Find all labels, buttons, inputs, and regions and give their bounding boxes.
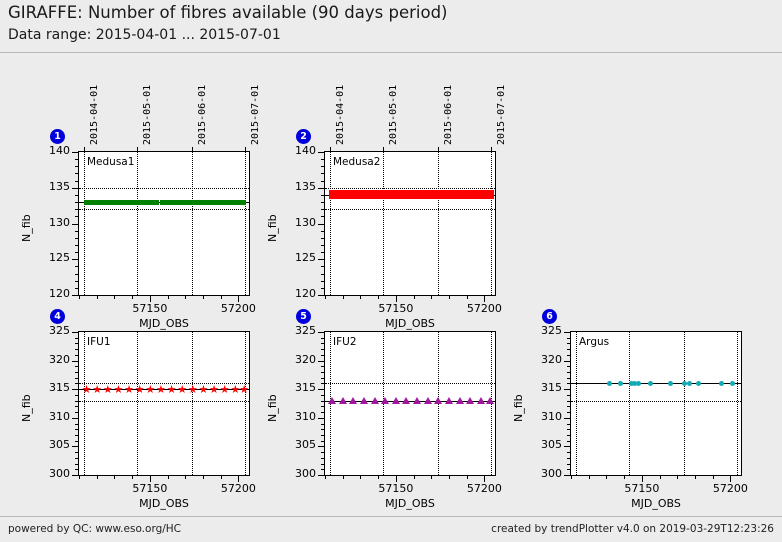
- x-axis-minor-tick: [185, 475, 186, 479]
- x-axis-tick-label: 57150: [366, 302, 426, 315]
- y-axis-minor-tick: [321, 349, 325, 350]
- y-axis-minor-tick: [567, 355, 571, 356]
- y-axis-minor-tick: [321, 343, 325, 344]
- data-point: ★: [135, 385, 144, 394]
- y-axis-tick-label: 315: [276, 381, 316, 394]
- x-axis-minor-tick: [132, 475, 133, 479]
- y-axis-tick-label: 305: [30, 438, 70, 451]
- y-axis-minor-tick: [75, 195, 79, 196]
- data-point: [402, 397, 410, 404]
- x-axis-tick: [642, 475, 643, 482]
- x-axis-tick-label: 57200: [454, 302, 514, 315]
- y-axis-tick: [72, 332, 79, 333]
- y-axis-tick: [72, 389, 79, 390]
- date-tick-label: 2015-07-01: [250, 85, 261, 145]
- y-axis-minor-tick: [75, 406, 79, 407]
- data-point: [719, 381, 724, 386]
- y-axis-tick: [72, 152, 79, 153]
- y-axis-minor-tick: [321, 181, 325, 182]
- y-axis-tick: [72, 418, 79, 419]
- y-axis-tick-label: 120: [30, 287, 70, 300]
- y-axis-tick: [318, 188, 325, 189]
- y-axis-minor-tick: [75, 458, 79, 459]
- y-axis-minor-tick: [321, 458, 325, 459]
- y-axis-tick-label: 310: [30, 410, 70, 423]
- data-point: [485, 190, 494, 199]
- x-axis-minor-tick: [467, 295, 468, 299]
- y-axis-minor-tick: [321, 469, 325, 470]
- y-axis-tick: [318, 389, 325, 390]
- y-axis-tick: [318, 295, 325, 296]
- plot-reference-line: [325, 383, 495, 384]
- y-axis-minor-tick: [321, 355, 325, 356]
- y-axis-minor-tick: [321, 406, 325, 407]
- x-axis-minor-tick: [203, 475, 204, 479]
- y-axis-minor-tick: [321, 266, 325, 267]
- x-axis-top-tick: [245, 147, 246, 151]
- x-axis-minor-tick: [221, 295, 222, 299]
- panel-index-badge[interactable]: 6: [542, 309, 557, 324]
- y-axis-minor-tick: [321, 452, 325, 453]
- y-axis-minor-tick: [567, 349, 571, 350]
- plot-reference-line: [325, 188, 495, 189]
- y-axis-minor-tick: [75, 216, 79, 217]
- data-point: ★: [167, 385, 176, 394]
- y-axis-minor-tick: [75, 338, 79, 339]
- footer-credit-left: powered by QC: www.eso.org/HC: [8, 523, 181, 535]
- plot-reference-line: [79, 401, 249, 402]
- plot-gridline-vertical: [576, 332, 577, 475]
- y-axis-minor-tick: [75, 343, 79, 344]
- x-axis-tick: [396, 475, 397, 482]
- y-axis-minor-tick: [567, 424, 571, 425]
- x-axis-minor-tick: [168, 295, 169, 299]
- y-axis-minor-tick: [567, 464, 571, 465]
- y-axis-minor-tick: [567, 366, 571, 367]
- y-axis-minor-tick: [75, 464, 79, 465]
- x-axis-tick-label: 57200: [454, 482, 514, 495]
- plot-gridline-vertical: [192, 152, 193, 295]
- data-point: [445, 397, 453, 404]
- y-axis-minor-tick: [321, 281, 325, 282]
- y-axis-title: N_fib: [512, 394, 525, 422]
- y-axis-minor-tick: [321, 383, 325, 384]
- y-axis-minor-tick: [75, 372, 79, 373]
- y-axis-minor-tick: [75, 281, 79, 282]
- y-axis-tick: [318, 332, 325, 333]
- y-axis-tick-label: 325: [30, 324, 70, 337]
- y-axis-tick-label: 135: [30, 180, 70, 193]
- y-axis-minor-tick: [321, 274, 325, 275]
- y-axis-minor-tick: [567, 395, 571, 396]
- y-axis-minor-tick: [321, 424, 325, 425]
- x-axis-minor-tick: [360, 295, 361, 299]
- y-axis-tick-label: 140: [30, 144, 70, 157]
- y-axis-minor-tick: [75, 435, 79, 436]
- plot-reference-line: [325, 209, 495, 210]
- x-axis-title: MJD_OBS: [375, 497, 445, 510]
- x-axis-tick-label: 57200: [700, 482, 760, 495]
- y-axis-minor-tick: [321, 435, 325, 436]
- y-axis-minor-tick: [75, 245, 79, 246]
- y-axis-tick: [72, 475, 79, 476]
- x-axis-minor-tick: [132, 295, 133, 299]
- y-axis-title: N_fib: [266, 214, 279, 242]
- data-point: [682, 381, 687, 386]
- x-axis-tick-label: 57200: [208, 482, 268, 495]
- x-axis-minor-tick: [677, 475, 678, 479]
- data-point: ★: [188, 385, 197, 394]
- y-axis-minor-tick: [321, 372, 325, 373]
- y-axis-tick: [564, 361, 571, 362]
- y-axis-tick-label: 305: [522, 438, 562, 451]
- data-point: [381, 397, 389, 404]
- x-axis-tick-label: 57150: [612, 482, 672, 495]
- data-point: [424, 397, 432, 404]
- y-axis-minor-tick: [75, 441, 79, 442]
- x-axis-minor-tick: [713, 475, 714, 479]
- y-axis-minor-tick: [567, 383, 571, 384]
- y-axis-tick-label: 305: [276, 438, 316, 451]
- x-axis-tick: [484, 295, 485, 302]
- y-axis-minor-tick: [567, 372, 571, 373]
- plot-gridline-vertical: [629, 332, 630, 475]
- plot-series-label: IFU2: [333, 336, 357, 348]
- data-point: ★: [103, 385, 112, 394]
- data-point: [154, 200, 159, 205]
- data-point: ★: [230, 385, 239, 394]
- data-point: ★: [92, 385, 101, 394]
- y-axis-minor-tick: [75, 469, 79, 470]
- y-axis-tick-label: 300: [276, 467, 316, 480]
- data-point: [730, 381, 735, 386]
- y-axis-minor-tick: [567, 435, 571, 436]
- page-title: GIRAFFE: Number of fibres available (90 …: [8, 3, 448, 22]
- y-axis-minor-tick: [567, 458, 571, 459]
- y-axis-minor-tick: [321, 216, 325, 217]
- x-axis-title: MJD_OBS: [129, 497, 199, 510]
- y-axis-minor-tick: [321, 378, 325, 379]
- y-axis-minor-tick: [321, 202, 325, 203]
- y-axis-minor-tick: [567, 406, 571, 407]
- data-point: ★: [209, 385, 218, 394]
- data-point: [339, 397, 347, 404]
- y-axis-minor-tick: [321, 173, 325, 174]
- x-axis-tick-label: 57150: [366, 482, 426, 495]
- data-point: ★: [124, 385, 133, 394]
- y-axis-minor-tick: [567, 469, 571, 470]
- y-axis-minor-tick: [75, 288, 79, 289]
- plot-gridline-vertical: [137, 152, 138, 295]
- x-axis-minor-tick: [467, 475, 468, 479]
- x-axis-minor-tick: [378, 475, 379, 479]
- y-axis-minor-tick: [321, 395, 325, 396]
- x-axis-title: MJD_OBS: [375, 317, 445, 330]
- y-axis-minor-tick: [321, 166, 325, 167]
- x-axis-minor-tick: [203, 295, 204, 299]
- data-point: [434, 397, 442, 404]
- plot-frame-6: Argus: [570, 331, 742, 476]
- y-axis-tick-label: 320: [276, 353, 316, 366]
- data-point: [636, 381, 641, 386]
- x-axis-minor-tick: [97, 295, 98, 299]
- y-axis-tick: [318, 475, 325, 476]
- plot-gridline-vertical: [84, 152, 85, 295]
- data-point: [360, 397, 368, 404]
- x-axis-minor-tick: [660, 475, 661, 479]
- date-tick-label: 2015-06-01: [443, 85, 454, 145]
- x-axis-top-tick: [84, 147, 85, 151]
- data-point: [371, 397, 379, 404]
- data-point: ★: [198, 385, 207, 394]
- x-axis-top-tick: [192, 147, 193, 151]
- data-point: ★: [82, 385, 91, 394]
- data-point: [486, 397, 494, 404]
- data-point: ★: [113, 385, 122, 394]
- plot-gridline-vertical: [137, 332, 138, 475]
- y-axis-tick-label: 120: [276, 287, 316, 300]
- panel-index-badge[interactable]: 5: [296, 309, 311, 324]
- x-axis-minor-tick: [378, 295, 379, 299]
- y-axis-tick: [72, 361, 79, 362]
- x-axis-minor-tick: [695, 475, 696, 479]
- y-axis-tick: [72, 224, 79, 225]
- panel-index-badge[interactable]: 4: [50, 309, 65, 324]
- plot-reference-line: [79, 188, 249, 189]
- y-axis-minor-tick: [321, 366, 325, 367]
- y-axis-minor-tick: [75, 355, 79, 356]
- plot-frame-1: Medusa1: [78, 151, 250, 296]
- x-axis-minor-tick: [606, 475, 607, 479]
- panel-index-badge[interactable]: 1: [50, 129, 65, 144]
- plot-series-label: IFU1: [87, 336, 111, 348]
- y-axis-tick-label: 325: [276, 324, 316, 337]
- plot-gridline-vertical: [737, 332, 738, 475]
- data-point: [466, 397, 474, 404]
- y-axis-tick-label: 310: [522, 410, 562, 423]
- y-axis-tick: [318, 152, 325, 153]
- y-axis-minor-tick: [567, 412, 571, 413]
- y-axis-tick: [564, 475, 571, 476]
- y-axis-minor-tick: [75, 209, 79, 210]
- y-axis-tick: [564, 446, 571, 447]
- y-axis-minor-tick: [321, 209, 325, 210]
- x-axis-minor-tick: [343, 475, 344, 479]
- y-axis-minor-tick: [75, 366, 79, 367]
- y-axis-tick-label: 130: [30, 216, 70, 229]
- y-axis-minor-tick: [567, 452, 571, 453]
- plot-gridline-vertical: [491, 152, 492, 295]
- y-axis-minor-tick: [75, 274, 79, 275]
- y-axis-tick-label: 315: [30, 381, 70, 394]
- y-axis-minor-tick: [567, 441, 571, 442]
- x-axis-minor-tick: [624, 475, 625, 479]
- y-axis-tick: [564, 389, 571, 390]
- x-axis-minor-tick: [325, 295, 326, 299]
- plot-reference-line: [571, 401, 741, 402]
- x-axis-minor-tick: [589, 475, 590, 479]
- plot-series-label: Medusa1: [87, 156, 134, 168]
- x-axis-minor-tick: [79, 295, 80, 299]
- data-point: ★: [239, 385, 248, 394]
- y-axis-tick: [72, 259, 79, 260]
- y-axis-tick: [318, 259, 325, 260]
- plot-reference-line: [79, 209, 249, 210]
- x-axis-top-tick: [137, 147, 138, 151]
- plot-gridline-vertical: [245, 152, 246, 295]
- y-axis-minor-tick: [75, 401, 79, 402]
- y-axis-minor-tick: [567, 378, 571, 379]
- plot-gridline-vertical: [330, 152, 331, 295]
- y-axis-minor-tick: [567, 338, 571, 339]
- y-axis-tick: [318, 446, 325, 447]
- y-axis-tick-label: 135: [276, 180, 316, 193]
- data-point: [607, 381, 612, 386]
- data-point: [618, 381, 623, 386]
- x-axis-minor-tick: [221, 475, 222, 479]
- y-axis-tick: [318, 361, 325, 362]
- x-axis-tick-label: 57200: [208, 302, 268, 315]
- x-axis-minor-tick: [79, 475, 80, 479]
- y-axis-tick-label: 130: [276, 216, 316, 229]
- y-axis-tick-label: 125: [276, 251, 316, 264]
- plot-gridline-vertical: [192, 332, 193, 475]
- x-axis-minor-tick: [571, 475, 572, 479]
- x-axis-minor-tick: [343, 295, 344, 299]
- x-axis-minor-tick: [414, 295, 415, 299]
- y-axis-minor-tick: [567, 343, 571, 344]
- y-axis-minor-tick: [75, 252, 79, 253]
- y-axis-minor-tick: [75, 424, 79, 425]
- y-axis-minor-tick: [321, 441, 325, 442]
- y-axis-tick-label: 320: [522, 353, 562, 366]
- data-point: [687, 381, 692, 386]
- y-axis-minor-tick: [567, 429, 571, 430]
- plot-grid: 1Medusa11201251301351405715057200MJD_OBS…: [0, 53, 782, 516]
- x-axis-top-tick: [438, 147, 439, 151]
- page-header: GIRAFFE: Number of fibres available (90 …: [0, 0, 782, 53]
- data-point: [413, 397, 421, 404]
- y-axis-minor-tick: [75, 452, 79, 453]
- footer-credit-right: created by trendPlotter v4.0 on 2019-03-…: [491, 523, 774, 535]
- plot-frame-5: IFU2: [324, 331, 496, 476]
- data-point: ★: [177, 385, 186, 394]
- y-axis-tick: [72, 295, 79, 296]
- y-axis-tick-label: 140: [276, 144, 316, 157]
- x-axis-tick: [730, 475, 731, 482]
- plot-gridline-vertical: [383, 152, 384, 295]
- y-axis-minor-tick: [75, 181, 79, 182]
- x-axis-tick: [238, 475, 239, 482]
- y-axis-minor-tick: [75, 378, 79, 379]
- y-axis-tick: [318, 224, 325, 225]
- plot-mean-line: [571, 383, 741, 384]
- x-axis-top-tick: [330, 147, 331, 151]
- page-footer: powered by QC: www.eso.org/HC created by…: [0, 516, 782, 542]
- y-axis-minor-tick: [567, 401, 571, 402]
- x-axis-tick: [396, 295, 397, 302]
- plot-series-label: Medusa2: [333, 156, 380, 168]
- y-axis-tick-label: 320: [30, 353, 70, 366]
- y-axis-title: N_fib: [20, 394, 33, 422]
- y-axis-minor-tick: [321, 231, 325, 232]
- data-point: [392, 397, 400, 404]
- date-tick-label: 2015-06-01: [197, 85, 208, 145]
- y-axis-minor-tick: [75, 173, 79, 174]
- y-axis-tick-label: 315: [522, 381, 562, 394]
- x-axis-minor-tick: [414, 475, 415, 479]
- data-point: ★: [156, 385, 165, 394]
- y-axis-minor-tick: [75, 349, 79, 350]
- x-axis-minor-tick: [449, 475, 450, 479]
- data-point: [668, 381, 673, 386]
- plot-frame-2: Medusa2: [324, 151, 496, 296]
- plot-gridline-vertical: [245, 332, 246, 475]
- y-axis-minor-tick: [321, 195, 325, 196]
- data-point: [349, 397, 357, 404]
- y-axis-minor-tick: [321, 464, 325, 465]
- data-point: [477, 397, 485, 404]
- plot-frame-4: IFU1★★★★★★★★★★★★★★★★: [78, 331, 250, 476]
- y-axis-minor-tick: [321, 338, 325, 339]
- x-axis-minor-tick: [360, 475, 361, 479]
- data-point: [696, 381, 701, 386]
- y-axis-minor-tick: [321, 412, 325, 413]
- panel-index-badge[interactable]: 2: [296, 129, 311, 144]
- y-axis-title: N_fib: [20, 214, 33, 242]
- plot-gridline-vertical: [438, 152, 439, 295]
- x-axis-minor-tick: [431, 475, 432, 479]
- data-point: ★: [145, 385, 154, 394]
- page-subtitle: Data range: 2015-04-01 ... 2015-07-01: [8, 27, 281, 43]
- y-axis-minor-tick: [75, 166, 79, 167]
- x-axis-top-tick: [383, 147, 384, 151]
- y-axis-minor-tick: [321, 252, 325, 253]
- y-axis-minor-tick: [75, 202, 79, 203]
- y-axis-minor-tick: [321, 245, 325, 246]
- y-axis-minor-tick: [321, 159, 325, 160]
- x-axis-minor-tick: [431, 295, 432, 299]
- y-axis-minor-tick: [321, 401, 325, 402]
- y-axis-tick-label: 300: [522, 467, 562, 480]
- y-axis-tick-label: 300: [30, 467, 70, 480]
- y-axis-tick-label: 125: [30, 251, 70, 264]
- y-axis-tick-label: 310: [276, 410, 316, 423]
- y-axis-minor-tick: [75, 412, 79, 413]
- x-axis-tick: [238, 295, 239, 302]
- y-axis-minor-tick: [321, 429, 325, 430]
- x-axis-tick-label: 57150: [120, 482, 180, 495]
- x-axis-minor-tick: [185, 295, 186, 299]
- x-axis-tick: [484, 475, 485, 482]
- x-axis-title: MJD_OBS: [129, 317, 199, 330]
- date-tick-label: 2015-05-01: [388, 85, 399, 145]
- x-axis-minor-tick: [97, 475, 98, 479]
- x-axis-tick-label: 57150: [120, 302, 180, 315]
- y-axis-minor-tick: [321, 288, 325, 289]
- y-axis-minor-tick: [75, 231, 79, 232]
- date-tick-label: 2015-04-01: [89, 85, 100, 145]
- y-axis-tick: [72, 188, 79, 189]
- y-axis-minor-tick: [75, 266, 79, 267]
- plot-series-label: Argus: [579, 336, 609, 348]
- x-axis-top-tick: [491, 147, 492, 151]
- y-axis-tick-label: 325: [522, 324, 562, 337]
- plot-gridline-vertical: [84, 332, 85, 475]
- y-axis-minor-tick: [75, 429, 79, 430]
- y-axis-minor-tick: [75, 383, 79, 384]
- y-axis-tick: [564, 332, 571, 333]
